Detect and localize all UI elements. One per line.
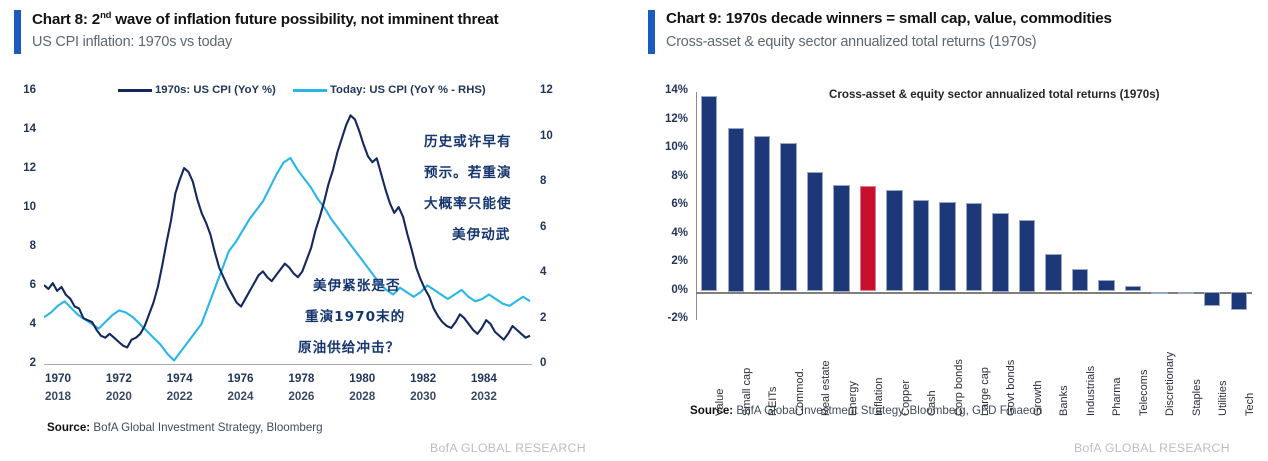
y-axis-tick-left: 8 xyxy=(4,240,36,252)
x-axis-tick-bottom: 2018 xyxy=(35,390,81,403)
y-axis-tick-right: 10 xyxy=(540,130,572,142)
chart-8-title: Chart 8: 2nd wave of inflation future po… xyxy=(32,10,499,28)
bar-reits[interactable] xyxy=(754,136,770,291)
y-axis-tick-left: 16 xyxy=(4,84,36,96)
x-axis-tick-top: 1974 xyxy=(157,372,203,385)
y-axis-tick-left: 2 xyxy=(4,357,36,369)
bar-copper[interactable] xyxy=(886,190,902,291)
x-axis-category-label: Inflation xyxy=(873,377,885,416)
title-suffix: wave of inflation future possibility, no… xyxy=(111,11,498,28)
x-axis-tick-bottom: 2028 xyxy=(339,390,385,403)
y-axis-tick: 10% xyxy=(648,141,688,153)
x-axis-category-label: Pharma xyxy=(1111,377,1123,416)
bar-energy[interactable] xyxy=(833,185,849,292)
bar-staples[interactable] xyxy=(1178,292,1194,295)
x-axis-category-label: Growth xyxy=(1032,381,1044,416)
bar-telecoms[interactable] xyxy=(1125,286,1141,292)
x-axis-tick-bottom: 2032 xyxy=(461,390,507,403)
chart-8-source: Source: BofA Global Investment Strategy,… xyxy=(47,421,323,434)
source-text: BofA Global Investment Strategy, Bloombe… xyxy=(90,421,322,434)
bar-large-cap[interactable] xyxy=(966,203,982,291)
x-axis-category-label: Govt bonds xyxy=(1005,360,1017,416)
bar-value[interactable] xyxy=(701,96,717,291)
x-axis-tick-bottom: 2030 xyxy=(400,390,446,403)
x-axis-category-label: Large cap xyxy=(979,367,991,416)
x-axis-category-label: Utilities xyxy=(1217,381,1229,416)
bar-corp-bonds[interactable] xyxy=(939,202,955,292)
chart-9-watermark: BofA GLOBAL RESEARCH xyxy=(1074,441,1230,455)
annotation-line-7: 原油供给冲击？ xyxy=(298,336,400,356)
chart-8-subtitle: US CPI inflation: 1970s vs today xyxy=(32,34,232,50)
x-axis-tick-top: 1980 xyxy=(339,372,385,385)
annotation-line-6: 重演1970末的 xyxy=(305,305,405,325)
bar-tech[interactable] xyxy=(1231,292,1247,311)
zero-baseline xyxy=(696,292,1252,294)
y-axis-tick-left: 12 xyxy=(4,162,36,174)
bar-small-cap[interactable] xyxy=(728,128,744,292)
x-axis-tick-top: 1978 xyxy=(278,372,324,385)
bar-growth[interactable] xyxy=(1019,220,1035,291)
y-axis-tick: 4% xyxy=(648,227,688,239)
x-axis-category-label: Staples xyxy=(1191,379,1203,416)
x-axis-tick-top: 1982 xyxy=(400,372,446,385)
x-axis-tick-bottom: 2022 xyxy=(157,390,203,403)
x-axis-tick-top: 1972 xyxy=(96,372,142,385)
x-axis-category-label: Tech xyxy=(1244,393,1256,416)
y-axis-tick-right: 8 xyxy=(540,175,572,187)
x-axis-category-label: Real estate xyxy=(820,360,832,416)
y-axis-tick-left: 4 xyxy=(4,318,36,330)
x-axis-category-label: Small cap xyxy=(741,368,753,416)
y-axis-tick-left: 14 xyxy=(4,123,36,135)
source-label: Source: xyxy=(690,404,733,417)
chart-9-header: Chart 9: 1970s decade winners = small ca… xyxy=(648,8,1260,64)
y-axis-line xyxy=(696,92,697,320)
annotation-line-1: 历史或许早有 xyxy=(424,130,512,150)
y-axis-tick: 12% xyxy=(648,113,688,125)
x-axis-category-label: Value xyxy=(714,389,726,416)
y-axis-tick-left: 10 xyxy=(4,201,36,213)
y-axis-tick: 6% xyxy=(648,198,688,210)
bar-utilities[interactable] xyxy=(1204,292,1220,306)
y-axis-tick: 2% xyxy=(648,255,688,267)
chart-8-panel: Chart 8: 2nd wave of inflation future po… xyxy=(0,0,634,461)
chart-8-header: Chart 8: 2nd wave of inflation future po… xyxy=(14,8,626,64)
x-axis-category-label: Telecoms xyxy=(1138,370,1150,416)
source-text: BofA Global Investment Strategy, Bloombe… xyxy=(733,404,1042,417)
y-axis-tick: 0% xyxy=(648,284,688,296)
x-axis-tick-bottom: 2026 xyxy=(278,390,324,403)
title-superscript: nd xyxy=(100,10,111,21)
annotation-line-2: 预示。若重演 xyxy=(424,161,512,181)
annotation-line-5: 美伊紧张是否 xyxy=(313,274,401,294)
bar-inflation[interactable] xyxy=(860,186,876,291)
y-axis-tick-right: 0 xyxy=(540,357,572,369)
source-label: Source: xyxy=(47,421,90,434)
x-axis-tick-top: 1976 xyxy=(218,372,264,385)
x-axis-tick-bottom: 2024 xyxy=(218,390,264,403)
chart-9-panel: Chart 9: 1970s decade winners = small ca… xyxy=(634,0,1268,461)
x-axis-category-label: Copper xyxy=(900,380,912,416)
y-axis-tick-right: 6 xyxy=(540,221,572,233)
annotation-line-4: 美伊动武 xyxy=(452,223,510,243)
bar-discretionary[interactable] xyxy=(1151,292,1167,295)
chart-9-subtitle: Cross-asset & equity sector annualized t… xyxy=(666,34,1036,50)
accent-bar xyxy=(648,10,655,54)
bar-industrials[interactable] xyxy=(1072,269,1088,292)
y-axis-tick-right: 2 xyxy=(540,312,572,324)
x-axis-category-label: Discretionary xyxy=(1164,352,1176,416)
accent-bar xyxy=(14,10,21,54)
x-axis-category-label: Corp bonds xyxy=(953,359,965,416)
x-axis-tick-bottom: 2020 xyxy=(96,390,142,403)
x-axis-category-label: Banks xyxy=(1058,385,1070,416)
bar-cash[interactable] xyxy=(913,200,929,291)
y-axis-tick-right: 4 xyxy=(540,266,572,278)
bar-pharma[interactable] xyxy=(1098,280,1114,291)
bar-govt-bonds[interactable] xyxy=(992,213,1008,291)
x-axis-category-label: REITs xyxy=(767,387,779,416)
bar-banks[interactable] xyxy=(1045,254,1061,291)
x-axis-category-label: Energy xyxy=(847,381,859,416)
x-axis-category-label: Commod. xyxy=(794,368,806,416)
x-axis-category-label: Cash xyxy=(926,390,938,416)
title-prefix: Chart 8: 2 xyxy=(32,11,100,28)
y-axis-tick: 14% xyxy=(648,84,688,96)
y-axis-tick-right: 12 xyxy=(540,84,572,96)
y-axis-tick: 8% xyxy=(648,170,688,182)
chart-8-watermark: BofA GLOBAL RESEARCH xyxy=(430,441,586,455)
bar-real-estate[interactable] xyxy=(807,172,823,292)
x-axis-tick-top: 1984 xyxy=(461,372,507,385)
y-axis-tick: -2% xyxy=(648,312,688,324)
bar-commod-[interactable] xyxy=(780,143,796,291)
y-axis-tick-left: 6 xyxy=(4,279,36,291)
x-axis-category-label: Industrials xyxy=(1085,366,1097,416)
x-axis-tick-top: 1970 xyxy=(35,372,81,385)
annotation-line-3: 大概率只能使 xyxy=(424,192,512,212)
chart-9-title: Chart 9: 1970s decade winners = small ca… xyxy=(666,10,1112,27)
